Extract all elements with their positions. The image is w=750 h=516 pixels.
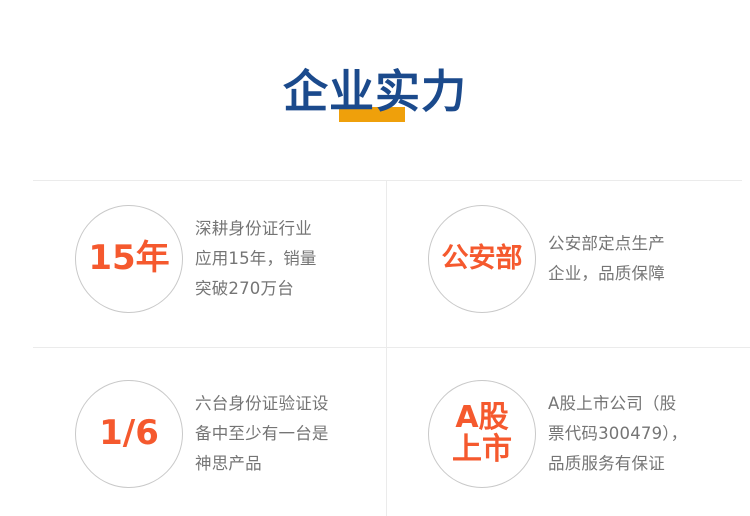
description-line: 六台身份证验证设 [195,389,375,419]
badge-circle-years: 15年 [75,205,183,313]
page-title: 企业实力 [283,65,467,118]
badge-label-line: A股 [455,400,508,435]
description-line: 公安部定点生产 [548,229,728,259]
description-line: 深耕身份证行业 [195,214,375,244]
card-description-years: 深耕身份证行业 应用15年，销量 突破270万台 [195,214,375,304]
badge-circle-listed: A股上市 [428,380,536,488]
card-description-marketshare: 六台身份证验证设 备中至少有一台是 神思产品 [195,389,375,479]
strength-card-listed: A股上市 A股上市公司（股 票代码300479）， 品质服务有保证 [428,375,728,493]
page-title-wrapper: 企业实力 [0,62,750,128]
description-line: 应用15年，销量 [195,244,375,274]
description-line: 品质服务有保证 [548,449,728,479]
description-line: 神思产品 [195,449,375,479]
divider-vertical [386,180,387,516]
strength-card-years: 15年 深耕身份证行业 应用15年，销量 突破270万台 [75,200,375,318]
description-line: 企业，品质保障 [548,259,728,289]
badge-label-marketshare: 1/6 [99,416,159,452]
description-line: A股上市公司（股 [548,389,728,419]
description-line: 备中至少有一台是 [195,419,375,449]
badge-circle-marketshare: 1/6 [75,380,183,488]
divider-horizontal-middle [33,347,750,348]
card-description-ministry: 公安部定点生产 企业，品质保障 [548,229,728,289]
page-title-inner: 企业实力 [283,62,467,122]
badge-label-listed: A股上市 [452,402,512,467]
badge-label-line: 上市 [452,432,512,467]
strength-card-marketshare: 1/6 六台身份证验证设 备中至少有一台是 神思产品 [75,375,375,493]
description-line: 突破270万台 [195,274,375,304]
description-line: 票代码300479）， [548,419,728,449]
enterprise-strength-section: 企业实力 15年 深耕身份证行业 应用15年，销量 突破270万台 公安部 公安… [0,0,750,516]
badge-label-years: 15年 [88,241,169,277]
badge-circle-ministry: 公安部 [428,205,536,313]
strength-card-ministry: 公安部 公安部定点生产 企业，品质保障 [428,200,728,318]
card-description-listed: A股上市公司（股 票代码300479）， 品质服务有保证 [548,389,728,479]
section-header: 企业实力 [0,0,750,170]
badge-label-ministry: 公安部 [442,245,523,273]
divider-horizontal-top [33,180,742,181]
